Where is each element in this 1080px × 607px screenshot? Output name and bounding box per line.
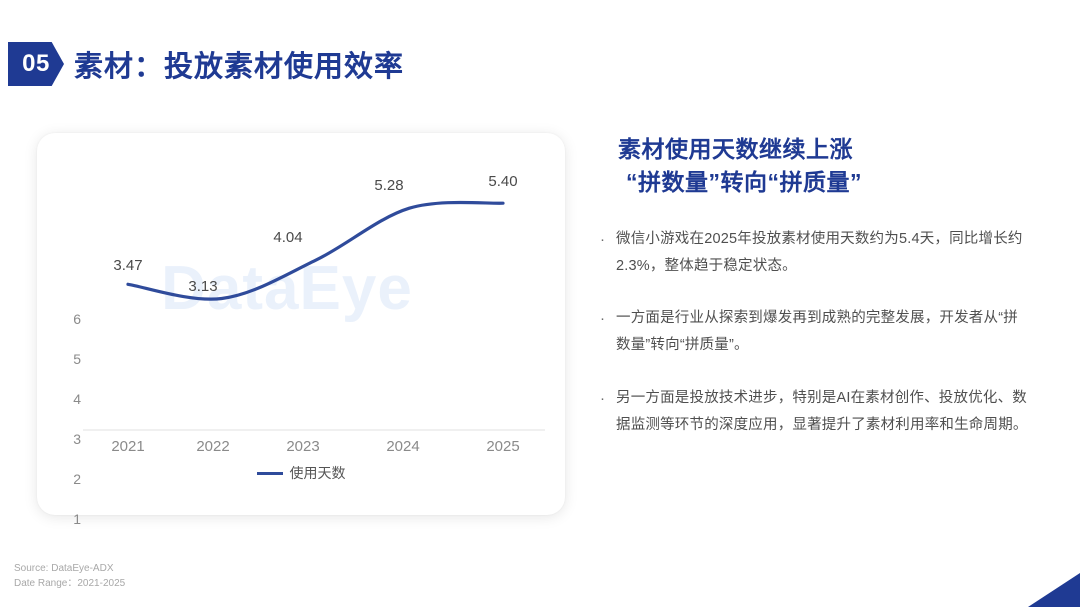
insight-headline-line-2: “拼数量”转向“拼质量” <box>600 166 1030 199</box>
legend-line-swatch <box>257 472 283 475</box>
list-item: · 微信小游戏在2025年投放素材使用天数约为5.4天，同比增长约2.3%，整体… <box>600 226 1030 280</box>
slide-header: 05 素材：投放素材使用效率 <box>8 40 404 88</box>
bullet-text-1: 微信小游戏在2025年投放素材使用天数约为5.4天，同比增长约2.3%，整体趋于… <box>616 226 1030 280</box>
bullet-dot-icon: · <box>600 226 616 254</box>
x-tick-2022: 2022 <box>178 438 248 455</box>
footer-source-line: Source: DataEye-ADX <box>14 561 125 576</box>
x-tick-2021: 2021 <box>93 438 163 455</box>
bullet-dot-icon: · <box>600 305 616 333</box>
point-label-2022: 3.13 <box>168 278 238 295</box>
point-label-2024: 5.28 <box>354 177 424 194</box>
corner-triangle-decoration <box>1028 573 1080 607</box>
insight-bullet-list: · 微信小游戏在2025年投放素材使用天数约为5.4天，同比增长约2.3%，整体… <box>600 226 1030 439</box>
bullet-text-3: 另一方面是投放技术进步，特别是AI在素材创作、投放优化、数据监测等环节的深度应用… <box>616 385 1030 439</box>
chart-legend: 使用天数 <box>37 463 565 483</box>
section-number-badge: 05 <box>8 42 64 86</box>
insight-panel: 素材使用天数继续上涨 “拼数量”转向“拼质量” · 微信小游戏在2025年投放素… <box>600 133 1030 465</box>
footer-date-range-line: Date Range：2021-2025 <box>14 576 125 591</box>
point-label-2025: 5.40 <box>468 173 538 190</box>
footer-source: Source: DataEye-ADX Date Range：2021-2025 <box>14 561 125 591</box>
chart-card: DataEye 6 5 4 3 2 1 3.47 3.13 4.04 5.28 … <box>37 133 565 515</box>
list-item: · 另一方面是投放技术进步，特别是AI在素材创作、投放优化、数据监测等环节的深度… <box>600 385 1030 439</box>
bullet-dot-icon: · <box>600 385 616 413</box>
x-tick-2025: 2025 <box>468 438 538 455</box>
list-item: · 一方面是行业从探索到爆发再到成熟的完整发展，开发者从“拼数量”转向“拼质量”… <box>600 305 1030 359</box>
point-label-2021: 3.47 <box>93 257 163 274</box>
insight-headline-line-1: 素材使用天数继续上涨 <box>600 133 1030 166</box>
line-chart-svg <box>37 133 565 515</box>
bullet-text-2: 一方面是行业从探索到爆发再到成熟的完整发展，开发者从“拼数量”转向“拼质量”。 <box>616 305 1030 359</box>
point-label-2023: 4.04 <box>253 229 323 246</box>
x-tick-2024: 2024 <box>368 438 438 455</box>
x-tick-2023: 2023 <box>268 438 338 455</box>
slide-root: 05 素材：投放素材使用效率 DataEye 6 5 4 3 2 1 3.47 … <box>0 0 1080 607</box>
page-title: 素材：投放素材使用效率 <box>74 43 404 85</box>
legend-label-usage-days: 使用天数 <box>290 463 346 483</box>
